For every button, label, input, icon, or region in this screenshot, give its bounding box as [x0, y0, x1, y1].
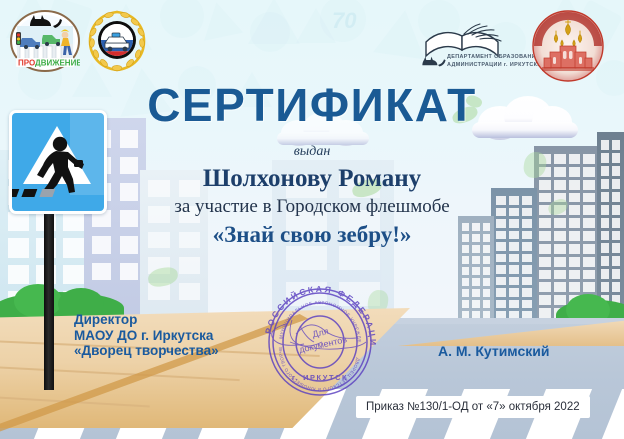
issued-label: выдан: [0, 144, 624, 160]
stamp-center-line-1: Для: [311, 326, 329, 339]
gibdd-emblem: [84, 8, 150, 74]
department-logo-line1: ДЕПАРТАМЕНТ ОБРАЗОВАНИЯ: [447, 54, 540, 61]
director-line-2: МАОУ ДО г. Иркутска: [74, 328, 219, 344]
director-line-1: Директор: [74, 312, 219, 328]
official-stamp: РОССИЙСКАЯ ФЕДЕРАЦИЯ МУНИЦИПАЛЬНОЕ АВТОН…: [256, 282, 384, 400]
signer-name: А. М. Кутимский: [438, 343, 549, 359]
svg-text:ДВИЖЕНИЕ: ДВИЖЕНИЕ: [35, 59, 80, 68]
director-line-3: «Дворец творчества»: [74, 343, 219, 359]
recipient-name: Шолхонову Роману: [0, 165, 624, 193]
bush-left-lobe: [14, 284, 62, 318]
event-slogan: «Знай свою зебру!»: [0, 222, 624, 248]
irkutsk-cathedral-emblem: [532, 10, 604, 82]
order-reference: Приказ №130/1-ОД от «7» октября 2022: [356, 396, 590, 418]
stamp-city-text: г. ИРКУТСК: [292, 373, 348, 382]
watermark-speed-limit-label: 70: [332, 8, 356, 34]
award-reason: за участие в Городском флешмобе: [0, 196, 624, 218]
certificate-canvas: 70: [0, 0, 624, 439]
department-logo-line2: АДМИНИСТРАЦИИ г. ИРКУТСКА: [447, 62, 542, 69]
director-title-block: Директор МАОУ ДО г. Иркутска «Дворец тво…: [74, 312, 219, 359]
prodvizhenie-logo: ПРО ДВИЖЕНИЕ: [10, 10, 80, 72]
certificate-title: СЕРТИФИКАТ: [0, 78, 624, 132]
svg-text:ПРО: ПРО: [18, 59, 35, 68]
